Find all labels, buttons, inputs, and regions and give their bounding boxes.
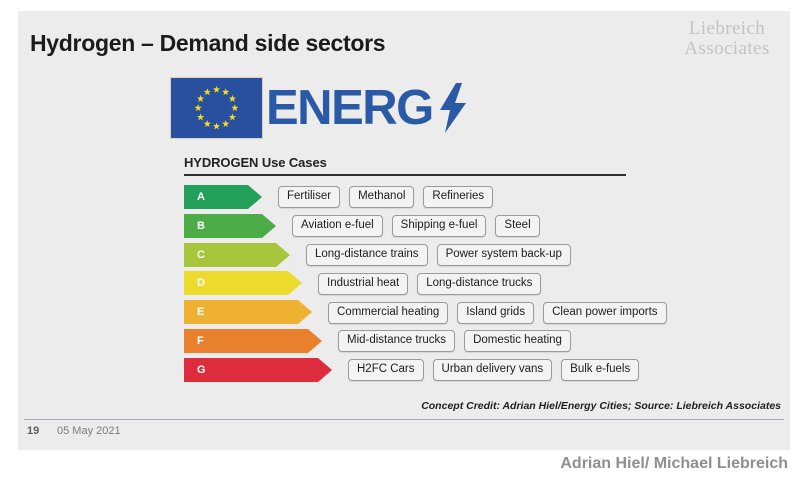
use-case-tag[interactable]: Methanol [349,186,414,208]
energy-grade-row: ECommercial heatingIsland gridsClean pow… [184,298,770,327]
grade-arrow-d: D [184,271,302,295]
use-case-tag-group: Aviation e-fuelShipping e-fuelSteel [292,212,540,241]
grade-arrow-g: G [184,358,332,382]
use-case-tag[interactable]: H2FC Cars [348,359,424,381]
footer-divider [24,419,784,420]
use-case-tag-group: H2FC CarsUrban delivery vansBulk e-fuels [348,356,639,385]
use-case-tag-group: Mid-distance trucksDomestic heating [338,327,571,356]
brand-logo: Liebreich Associates [671,19,783,60]
slide-surface: Hydrogen – Demand side sectors Liebreich… [18,11,790,450]
presenter-names: Adrian Hiel/ Michael Liebreich [560,455,788,473]
use-case-tag[interactable]: Mid-distance trucks [338,330,455,352]
grade-letter: C [197,243,205,267]
energy-wordmark: ENERG [266,74,433,142]
use-case-tag[interactable]: Fertiliser [278,186,340,208]
use-case-tag-group: FertiliserMethanolRefineries [278,183,493,212]
energy-grade-row: BAviation e-fuelShipping e-fuelSteel [184,212,770,241]
grade-arrow-f: F [184,329,322,353]
use-case-tag[interactable]: Island grids [457,302,534,324]
grade-letter: F [197,329,204,353]
grade-letter: G [197,358,206,382]
use-case-tag[interactable]: Power system back-up [437,244,571,266]
slide-date: 05 May 2021 [57,425,121,437]
energy-grade-row: DIndustrial heatLong-distance trucks [184,269,770,298]
use-case-tag[interactable]: Domestic heating [464,330,571,352]
grade-arrow-c: C [184,243,290,267]
brand-logo-line1: Liebreich [671,19,783,39]
energy-grade-row: AFertiliserMethanolRefineries [184,183,770,212]
use-case-tag[interactable]: Bulk e-fuels [561,359,639,381]
use-case-tag[interactable]: Industrial heat [318,273,408,295]
page-number: 19 [27,425,39,437]
grade-arrow-b: B [184,214,276,238]
eu-flag-icon [170,77,263,139]
brand-logo-line2: Associates [671,39,783,59]
use-cases-underline [184,174,626,176]
use-case-tag[interactable]: Steel [495,215,539,237]
grade-letter: E [197,300,204,324]
energy-logo-row: ENERG [170,74,770,142]
energy-grade-row: FMid-distance trucksDomestic heating [184,327,770,356]
use-case-tag[interactable]: Refineries [423,186,493,208]
energy-label-graphic: ENERG HYDROGEN Use Cases AFertiliserMeth… [170,74,770,142]
screenshot-root: Hydrogen – Demand side sectors Liebreich… [0,0,800,485]
use-case-tag[interactable]: Shipping e-fuel [392,215,487,237]
use-case-tag-group: Commercial heatingIsland gridsClean powe… [328,298,667,327]
grade-letter: A [197,185,205,209]
use-case-tag[interactable]: Commercial heating [328,302,448,324]
use-case-tag[interactable]: Aviation e-fuel [292,215,383,237]
page-title: Hydrogen – Demand side sectors [30,30,385,57]
grade-letter: B [197,214,205,238]
use-case-tag[interactable]: Long-distance trains [306,244,428,266]
use-case-tag-group: Long-distance trainsPower system back-up [306,241,571,270]
use-case-tag[interactable]: Clean power imports [543,302,666,324]
grade-arrow-a: A [184,185,262,209]
grade-arrow-e: E [184,300,312,324]
use-case-tag[interactable]: Urban delivery vans [433,359,553,381]
lightning-bolt-icon [438,83,468,133]
energy-grade-row: GH2FC CarsUrban delivery vansBulk e-fuel… [184,356,770,385]
use-case-tag[interactable]: Long-distance trucks [417,273,541,295]
energy-grade-row: CLong-distance trainsPower system back-u… [184,241,770,270]
grade-letter: D [197,271,205,295]
energy-grade-rows: AFertiliserMethanolRefineriesBAviation e… [184,183,770,385]
use-case-tag-group: Industrial heatLong-distance trucks [318,269,541,298]
concept-credit: Concept Credit: Adrian Hiel/Energy Citie… [421,400,781,412]
use-cases-subtitle: HYDROGEN Use Cases [184,155,327,170]
